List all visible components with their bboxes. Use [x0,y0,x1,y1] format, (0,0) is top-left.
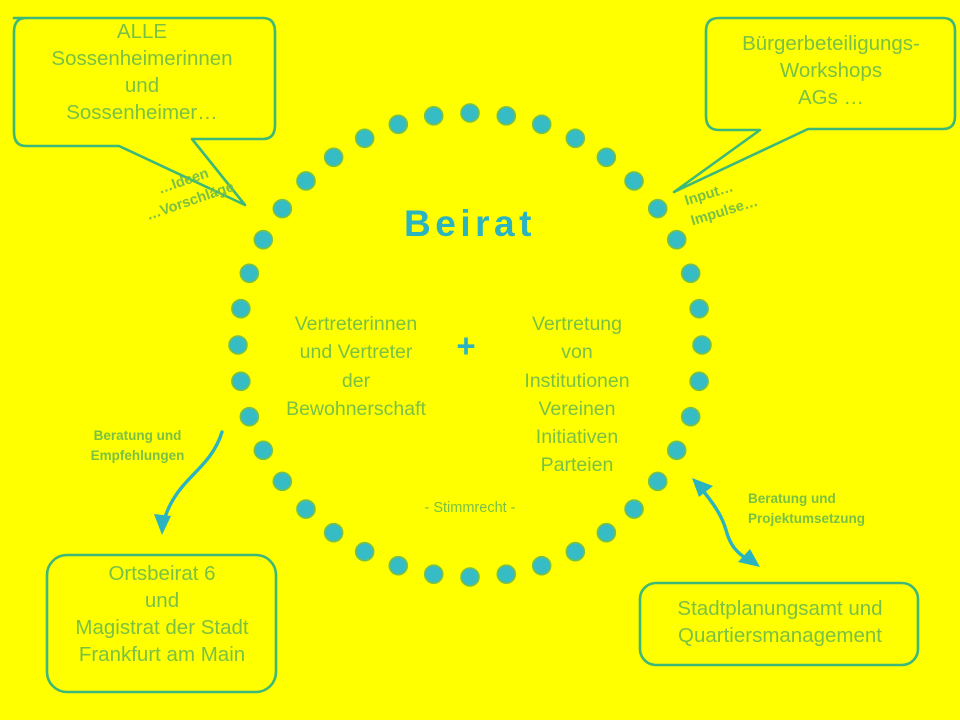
arrow-label-beratung-projektumsetzung: Beratung und Projektumsetzung [748,489,918,530]
circle-dot [625,500,643,518]
center-column-institutions: Vertretung von Institutionen Vereinen In… [492,310,662,480]
box-ortsbeirat-label: Ortsbeirat 6 und Magistrat der Stadt Fra… [48,560,276,668]
speech-bubble-citizens-label: ALLE Sossenheimerinnen und Sossenheimer… [14,18,270,126]
circle-dot [668,441,686,459]
circle-dot [254,231,272,249]
circle-dot [693,336,711,354]
diagram-canvas: ALLE Sossenheimerinnen und Sossenheimer…… [0,0,960,720]
arrow-label-beratung-empfehlungen: Beratung und Empfehlungen [70,426,205,467]
circle-dot [597,148,615,166]
circle-dot [356,543,374,561]
circle-dot [254,441,272,459]
center-footnote-stimmrecht: - Stimmrecht - [365,500,575,516]
circle-dot [533,557,551,575]
circle-dot [232,300,250,318]
circle-dot [273,472,291,490]
circle-dot [297,500,315,518]
circle-dot [389,557,407,575]
circle-dot [232,372,250,390]
speech-bubble-workshops-label: Bürgerbeteiligungs- Workshops AGs … [706,30,956,111]
circle-dot [497,107,515,125]
center-column-residents: Vertreterinnen und Vertreter der Bewohne… [272,310,440,423]
circle-dot [690,300,708,318]
circle-dot [425,107,443,125]
center-title-beirat: Beirat [285,203,655,245]
circle-dot [356,129,374,147]
circle-dot [240,408,258,426]
circle-dot [461,568,479,586]
circle-dot [461,104,479,122]
circle-dot [566,129,584,147]
circle-dot [325,524,343,542]
plus-sign: + [448,329,484,362]
tail-label-input: Input… Impulse… [682,160,799,232]
circle-dot [297,172,315,190]
circle-dot [625,172,643,190]
circle-dot [668,231,686,249]
circle-dot [389,115,407,133]
circle-dot [533,115,551,133]
circle-dot [425,565,443,583]
circle-dot [240,264,258,282]
circle-dot [325,148,343,166]
circle-dot [229,336,247,354]
circle-dot [690,372,708,390]
circle-dot [682,408,700,426]
circle-dot [682,264,700,282]
circle-dot [597,524,615,542]
circle-dot [497,565,515,583]
tail-label-ideen: …Ideen …Vorschläge [119,151,256,233]
box-stadtplanungsamt-label: Stadtplanungsamt und Quartiersmanagement [640,595,920,649]
circle-dot [566,543,584,561]
